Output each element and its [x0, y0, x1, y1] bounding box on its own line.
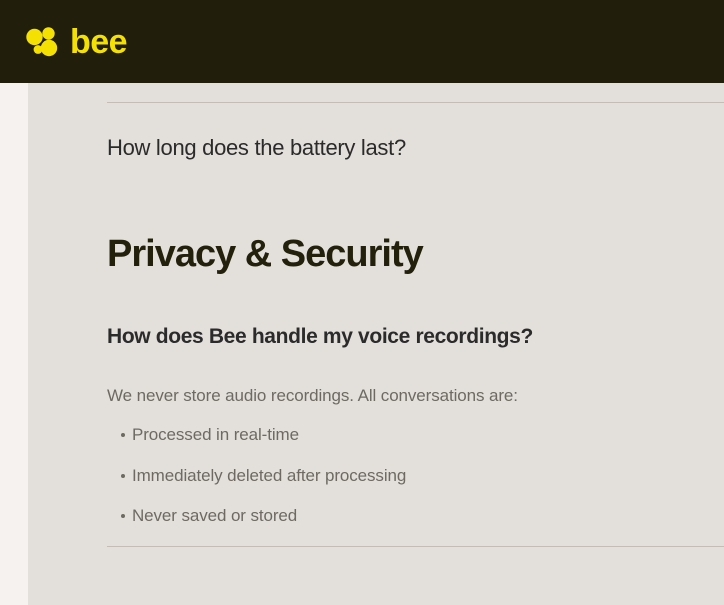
- faq-divider-bottom: [107, 546, 724, 547]
- bee-logo-icon: [24, 25, 60, 59]
- brand-home-link[interactable]: bee: [24, 25, 127, 59]
- bullet-dot-icon: [121, 474, 125, 478]
- faq-inner: How long does the battery last? Privacy …: [107, 83, 724, 547]
- page-body: How long does the battery last? Privacy …: [0, 83, 724, 605]
- faq-divider-top: [107, 102, 724, 103]
- brand-name: bee: [70, 25, 127, 59]
- list-item: Immediately deleted after processing: [107, 464, 724, 489]
- faq-section-title-privacy-security: Privacy & Security: [107, 234, 724, 276]
- faq-answer-intro: We never store audio recordings. All con…: [107, 384, 724, 409]
- bullet-dot-icon: [121, 514, 125, 518]
- list-item-label: Processed in real-time: [132, 425, 299, 444]
- bullet-dot-icon: [121, 433, 125, 437]
- faq-question-voice-recordings[interactable]: How does Bee handle my voice recordings?: [107, 324, 724, 349]
- faq-answer-bullet-list: Processed in real-time Immediately delet…: [107, 423, 724, 529]
- list-item: Processed in real-time: [107, 423, 724, 448]
- list-item-label: Immediately deleted after processing: [132, 466, 406, 485]
- site-header: bee: [0, 0, 724, 83]
- left-rail: [0, 83, 28, 605]
- list-item: Never saved or stored: [107, 504, 724, 529]
- list-item-label: Never saved or stored: [132, 506, 297, 525]
- faq-question-battery-life[interactable]: How long does the battery last?: [107, 135, 724, 161]
- faq-content-panel: How long does the battery last? Privacy …: [28, 83, 724, 605]
